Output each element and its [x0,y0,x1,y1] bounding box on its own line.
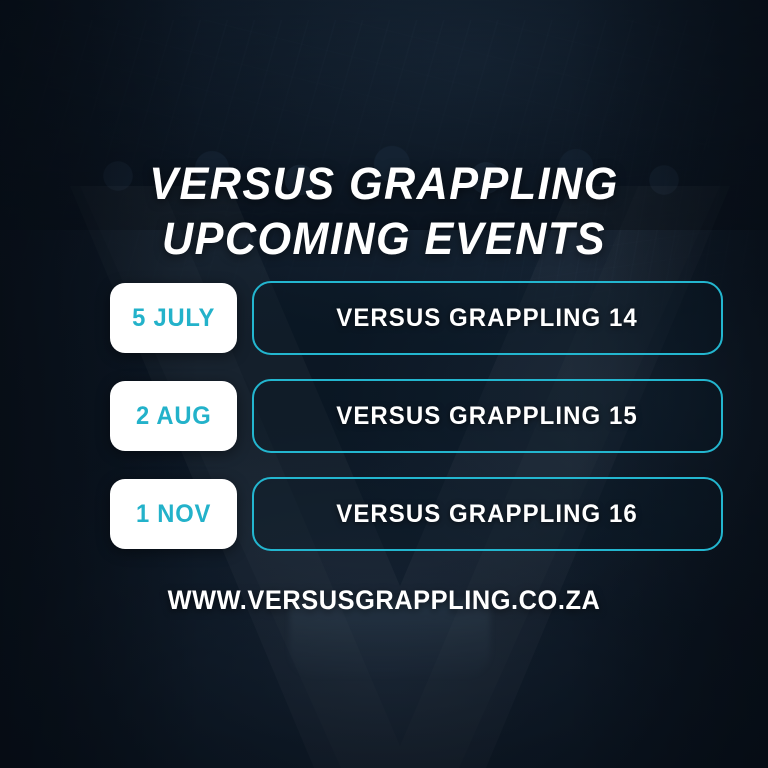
event-row: 5 JULY VERSUS GRAPPLING 14 [0,281,768,355]
title-line-2: UPCOMING EVENTS [15,211,752,266]
poster-content: VERSUS GRAPPLING UPCOMING EVENTS 5 JULY … [0,0,768,768]
website-url[interactable]: WWW.VERSUSGRAPPLING.CO.ZA [23,585,745,616]
events-list: 5 JULY VERSUS GRAPPLING 14 2 AUG VERSUS … [0,281,768,575]
event-poster: VERSUS GRAPPLING UPCOMING EVENTS 5 JULY … [0,0,768,768]
event-name-pill[interactable]: VERSUS GRAPPLING 15 [252,379,723,453]
event-date-badge: 2 AUG [110,381,237,451]
event-date-label: 2 AUG [136,402,212,431]
event-name-pill[interactable]: VERSUS GRAPPLING 16 [252,477,723,551]
event-date-badge: 5 JULY [110,283,237,353]
event-row: 2 AUG VERSUS GRAPPLING 15 [0,379,768,453]
event-name-label: VERSUS GRAPPLING 15 [337,402,638,431]
poster-title: VERSUS GRAPPLING UPCOMING EVENTS [0,156,768,266]
event-date-label: 5 JULY [132,304,215,333]
event-date-badge: 1 NOV [110,479,237,549]
event-name-label: VERSUS GRAPPLING 14 [337,304,638,333]
event-name-label: VERSUS GRAPPLING 16 [337,500,638,529]
event-name-pill[interactable]: VERSUS GRAPPLING 14 [252,281,723,355]
title-line-1: VERSUS GRAPPLING [15,156,752,211]
event-date-label: 1 NOV [136,500,211,529]
event-row: 1 NOV VERSUS GRAPPLING 16 [0,477,768,551]
